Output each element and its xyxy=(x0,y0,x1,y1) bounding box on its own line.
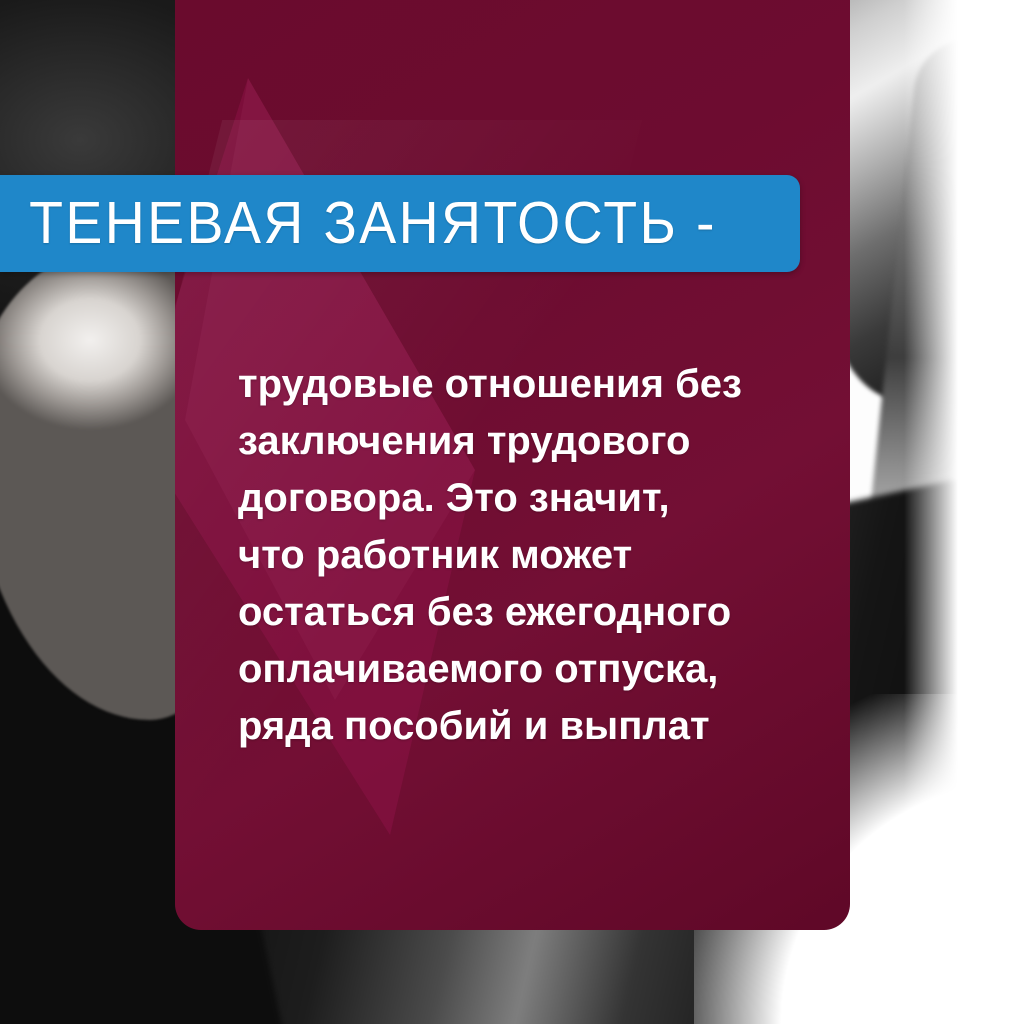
body-line: оплачиваемого отпуска, xyxy=(238,641,808,698)
title-banner: ТЕНЕВАЯ ЗАНЯТОСТЬ - xyxy=(0,175,800,272)
page-title: ТЕНЕВАЯ ЗАНЯТОСТЬ - xyxy=(0,194,717,253)
body-line: договора. Это значит, xyxy=(238,470,808,527)
body-line: остаться без ежегодного xyxy=(238,584,808,641)
body-line: ряда пособий и выплат xyxy=(238,698,808,755)
body-line: что работник может xyxy=(238,527,808,584)
body-paragraph: трудовые отношения без заключения трудов… xyxy=(238,356,808,755)
poster-canvas: ТЕНЕВАЯ ЗАНЯТОСТЬ - трудовые отношения б… xyxy=(0,0,1024,1024)
body-line: трудовые отношения без xyxy=(238,356,808,413)
body-line: заключения трудового xyxy=(238,413,808,470)
